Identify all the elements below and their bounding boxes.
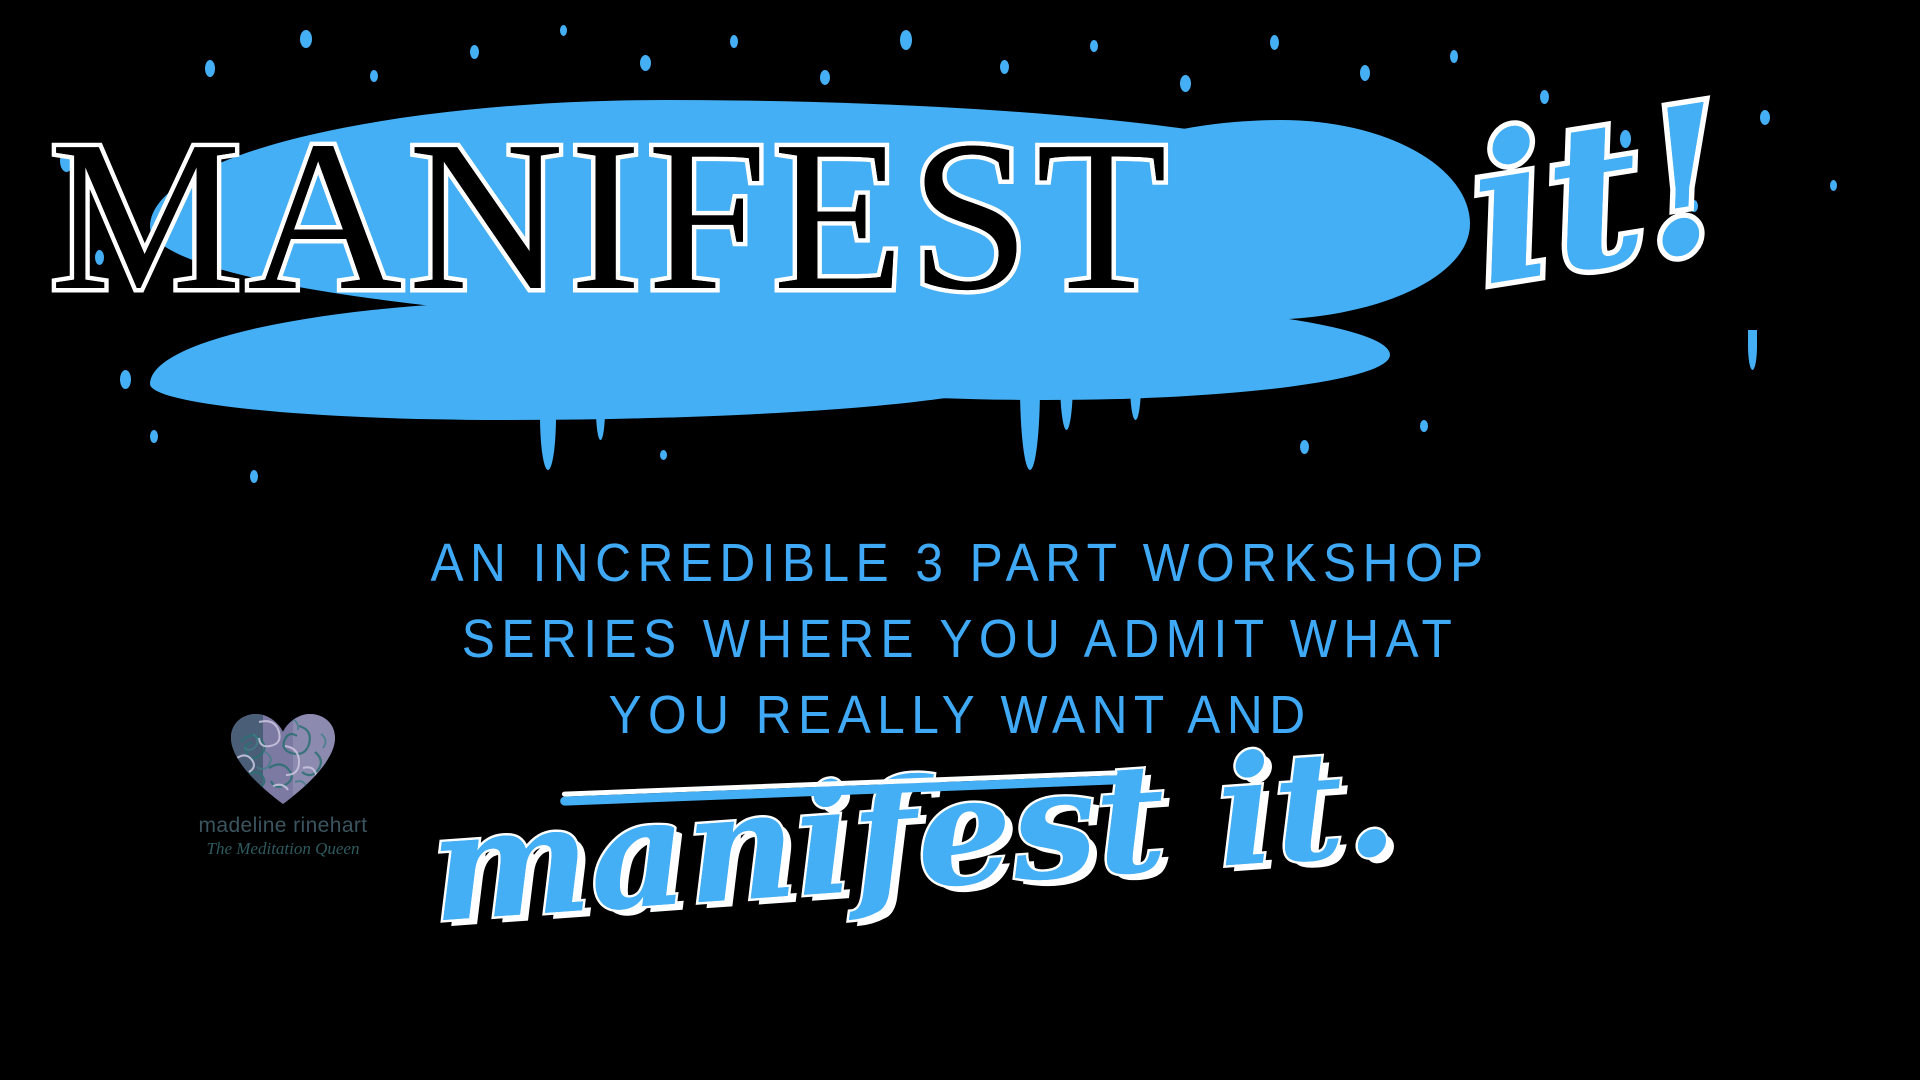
- brand-tagline: The Meditation Queen: [178, 839, 388, 859]
- headline-main-word: MANIFEST: [50, 108, 1173, 323]
- bottom-script-text: manifest it.: [426, 726, 1400, 943]
- headline-script-word: it!: [1458, 77, 1742, 315]
- subtitle-line-1: AN INCREDIBLE 3 PART WORKSHOP: [77, 525, 1843, 601]
- brand-logo: madeline rinehart The Meditation Queen: [178, 712, 388, 872]
- brand-name: madeline rinehart: [178, 814, 388, 838]
- poster-canvas: MANIFEST MANIFEST it! it! AN INCREDIBLE …: [0, 0, 1920, 1080]
- headline: MANIFEST MANIFEST it! it!: [0, 0, 1920, 480]
- swirl-heart-icon: [229, 712, 337, 808]
- subtitle-line-2: SERIES WHERE YOU ADMIT WHAT: [77, 601, 1843, 677]
